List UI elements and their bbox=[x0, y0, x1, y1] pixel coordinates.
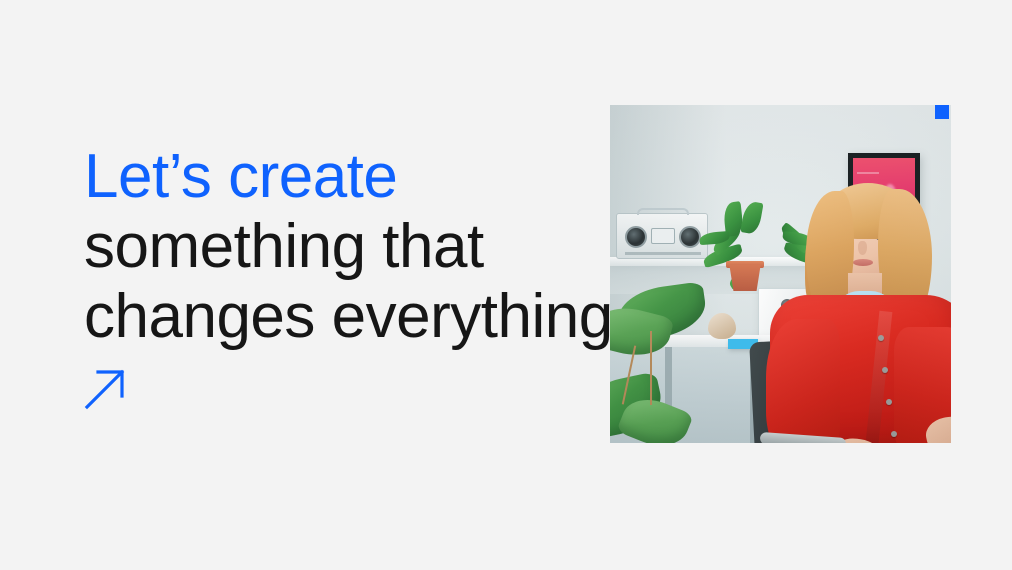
headline-line-2: something that bbox=[84, 212, 613, 282]
hero-banner: Let’s create something that changes ever… bbox=[0, 0, 1012, 570]
person-subject bbox=[610, 105, 951, 443]
photo-scene bbox=[610, 105, 951, 443]
lips bbox=[853, 259, 873, 266]
headline-line-1: Let’s create bbox=[84, 142, 613, 212]
cardigan-sleeve-left bbox=[766, 319, 840, 443]
nose bbox=[858, 241, 867, 255]
accent-square bbox=[935, 105, 949, 119]
hero-image bbox=[610, 105, 951, 443]
page-title: Let’s create something that changes ever… bbox=[84, 142, 613, 352]
arrow-up-right-icon[interactable] bbox=[84, 364, 136, 412]
headline-line-3: changes everything bbox=[84, 282, 613, 352]
